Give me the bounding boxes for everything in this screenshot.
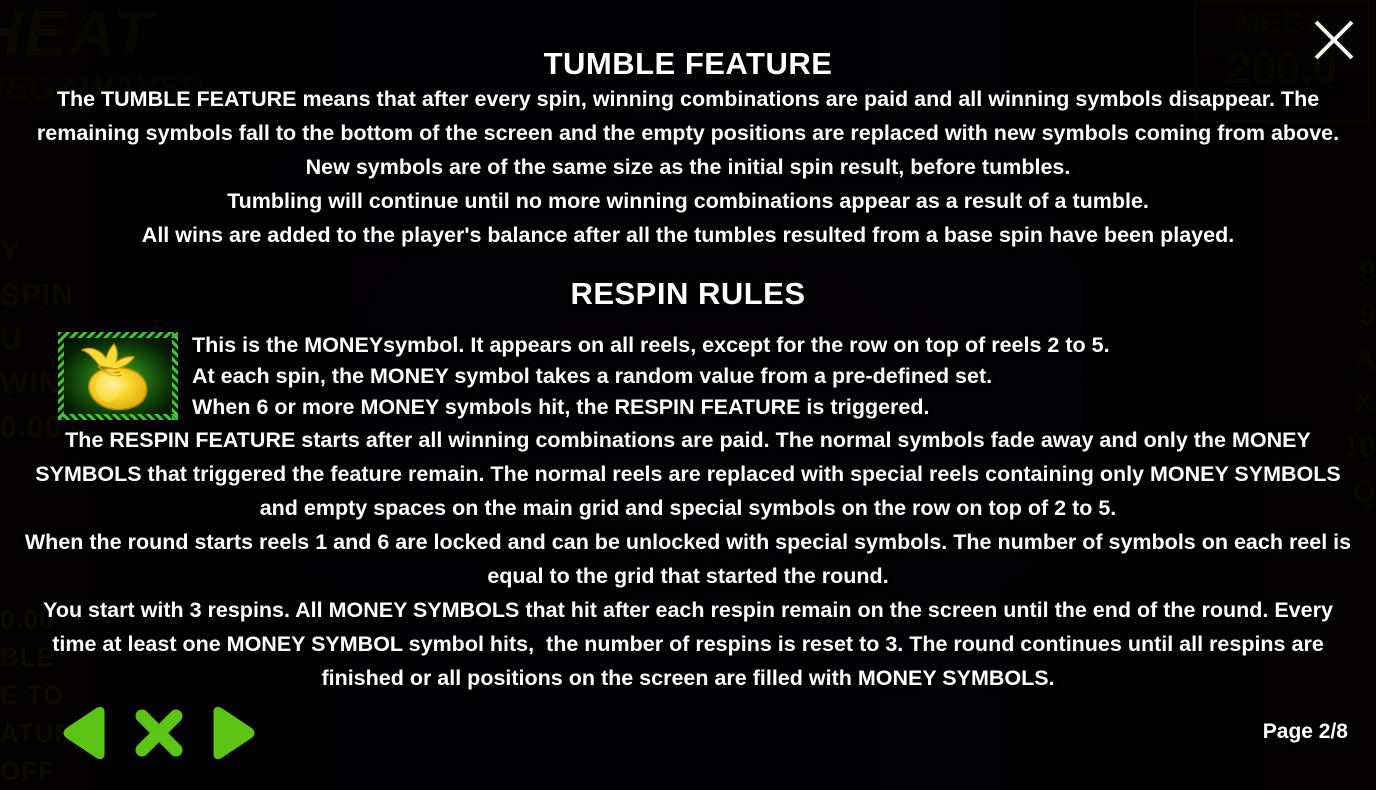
money-symbol-description: This is the MONEYsymbol. It appears on a… <box>178 330 1366 423</box>
respins-paragraph: You start with 3 respins. All MONEY SYMB… <box>10 593 1366 695</box>
previous-arrow-icon[interactable] <box>58 704 116 762</box>
round-starts-paragraph: When the round starts reels 1 and 6 are … <box>10 525 1366 593</box>
tumble-intro-paragraph: The TUMBLE FEATURE means that after ever… <box>10 82 1366 184</box>
next-arrow-icon[interactable] <box>202 704 260 762</box>
money-bag-symbol-icon <box>58 332 178 420</box>
page-indicator: Page 2/8 <box>1263 720 1348 744</box>
symbol-border-zigzag <box>58 332 178 420</box>
paytable-footer: Page 2/8 <box>0 696 1376 790</box>
tumbling-continue-paragraph: Tumbling will continue until no more win… <box>10 184 1366 218</box>
navigation-buttons <box>58 704 260 762</box>
close-x-icon[interactable] <box>130 704 188 762</box>
all-wins-paragraph: All wins are added to the player's balan… <box>10 218 1366 252</box>
respin-feature-paragraph: The RESPIN FEATURE starts after all winn… <box>10 423 1366 525</box>
tumble-feature-title: TUMBLE FEATURE <box>10 0 1366 82</box>
paytable-screen: HEAT MEGAWAYSTM MEGA 200,0 Y SPIN U WIN … <box>0 0 1376 790</box>
money-symbol-row: This is the MONEYsymbol. It appears on a… <box>10 330 1366 423</box>
paytable-overlay: TUMBLE FEATURE The TUMBLE FEATURE means … <box>0 0 1376 790</box>
respin-rules-title: RESPIN RULES <box>10 252 1366 312</box>
paytable-content: TUMBLE FEATURE The TUMBLE FEATURE means … <box>0 0 1376 695</box>
